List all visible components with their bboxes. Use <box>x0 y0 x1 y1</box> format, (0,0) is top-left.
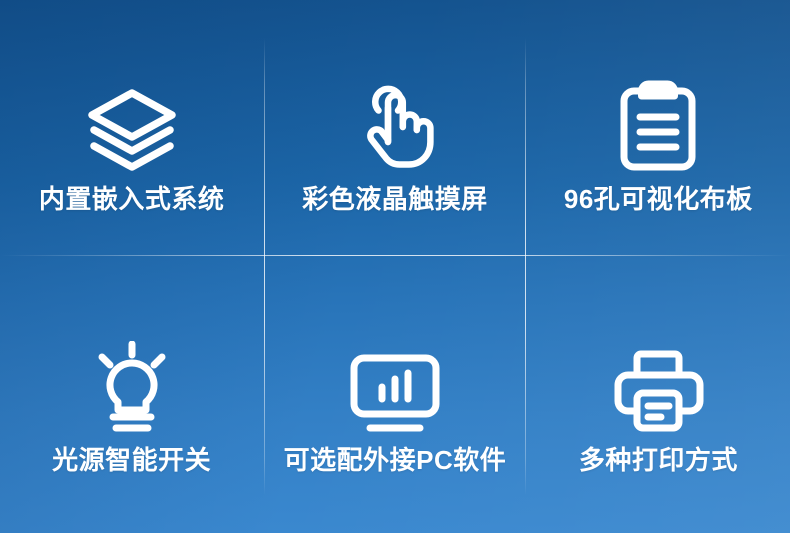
feature-grid: 内置嵌入式系统 彩色液晶触摸屏 <box>0 0 790 533</box>
feature-label: 多种打印方式 <box>579 447 738 473</box>
printer-icon <box>612 337 704 433</box>
feature-label: 可选配外接PC软件 <box>284 447 507 473</box>
feature-label: 彩色液晶触摸屏 <box>302 186 488 212</box>
feature-cell-embedded-system: 内置嵌入式系统 <box>0 0 263 267</box>
feature-label: 96孔可视化布板 <box>564 186 753 212</box>
feature-cell-96-well-plate: 96孔可视化布板 <box>527 0 790 267</box>
feature-cell-light-switch: 光源智能开关 <box>0 267 263 533</box>
feature-cell-pc-software: 可选配外接PC软件 <box>263 267 526 533</box>
feature-panel: 内置嵌入式系统 彩色液晶触摸屏 <box>0 0 790 533</box>
clipboard-icon <box>617 76 699 172</box>
lightbulb-icon <box>89 337 175 433</box>
layers-icon <box>84 76 180 172</box>
feature-cell-printing: 多种打印方式 <box>527 267 790 533</box>
feature-label: 光源智能开关 <box>52 447 211 473</box>
feature-cell-touchscreen: 彩色液晶触摸屏 <box>263 0 526 267</box>
feature-label: 内置嵌入式系统 <box>39 186 225 212</box>
monitor-chart-icon <box>348 337 442 433</box>
touch-hand-icon <box>349 76 441 172</box>
